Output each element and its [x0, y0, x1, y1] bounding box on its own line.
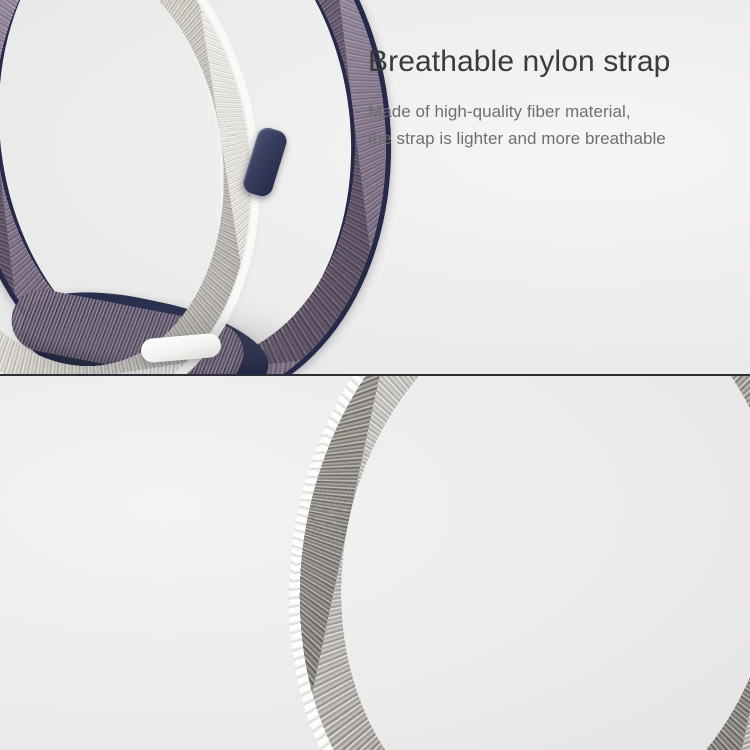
photo-velcro-underside: NILLKIN — [0, 376, 750, 750]
subtext-line-1: Made of high-quality fiber material, — [368, 98, 740, 126]
subtext-breathable-nylon-strap: Made of high-quality fiber material, the… — [368, 98, 740, 153]
headline-breathable-nylon-strap: Breathable nylon strap — [368, 44, 740, 81]
product-feature-image: Breathable nylon strap Made of high-qual… — [0, 0, 750, 750]
subtext-line-2: the strap is lighter and more breathable — [368, 125, 740, 153]
panel-breathable-nylon-strap: Breathable nylon strap Made of high-qual… — [0, 0, 750, 374]
panel-portable-velcro-design: NILLKIN Portable Velcro design Reversed … — [0, 376, 750, 750]
grey-strap-white-edge-binding — [228, 376, 750, 750]
text-block-breathable-nylon-strap: Breathable nylon strap Made of high-qual… — [368, 44, 740, 153]
